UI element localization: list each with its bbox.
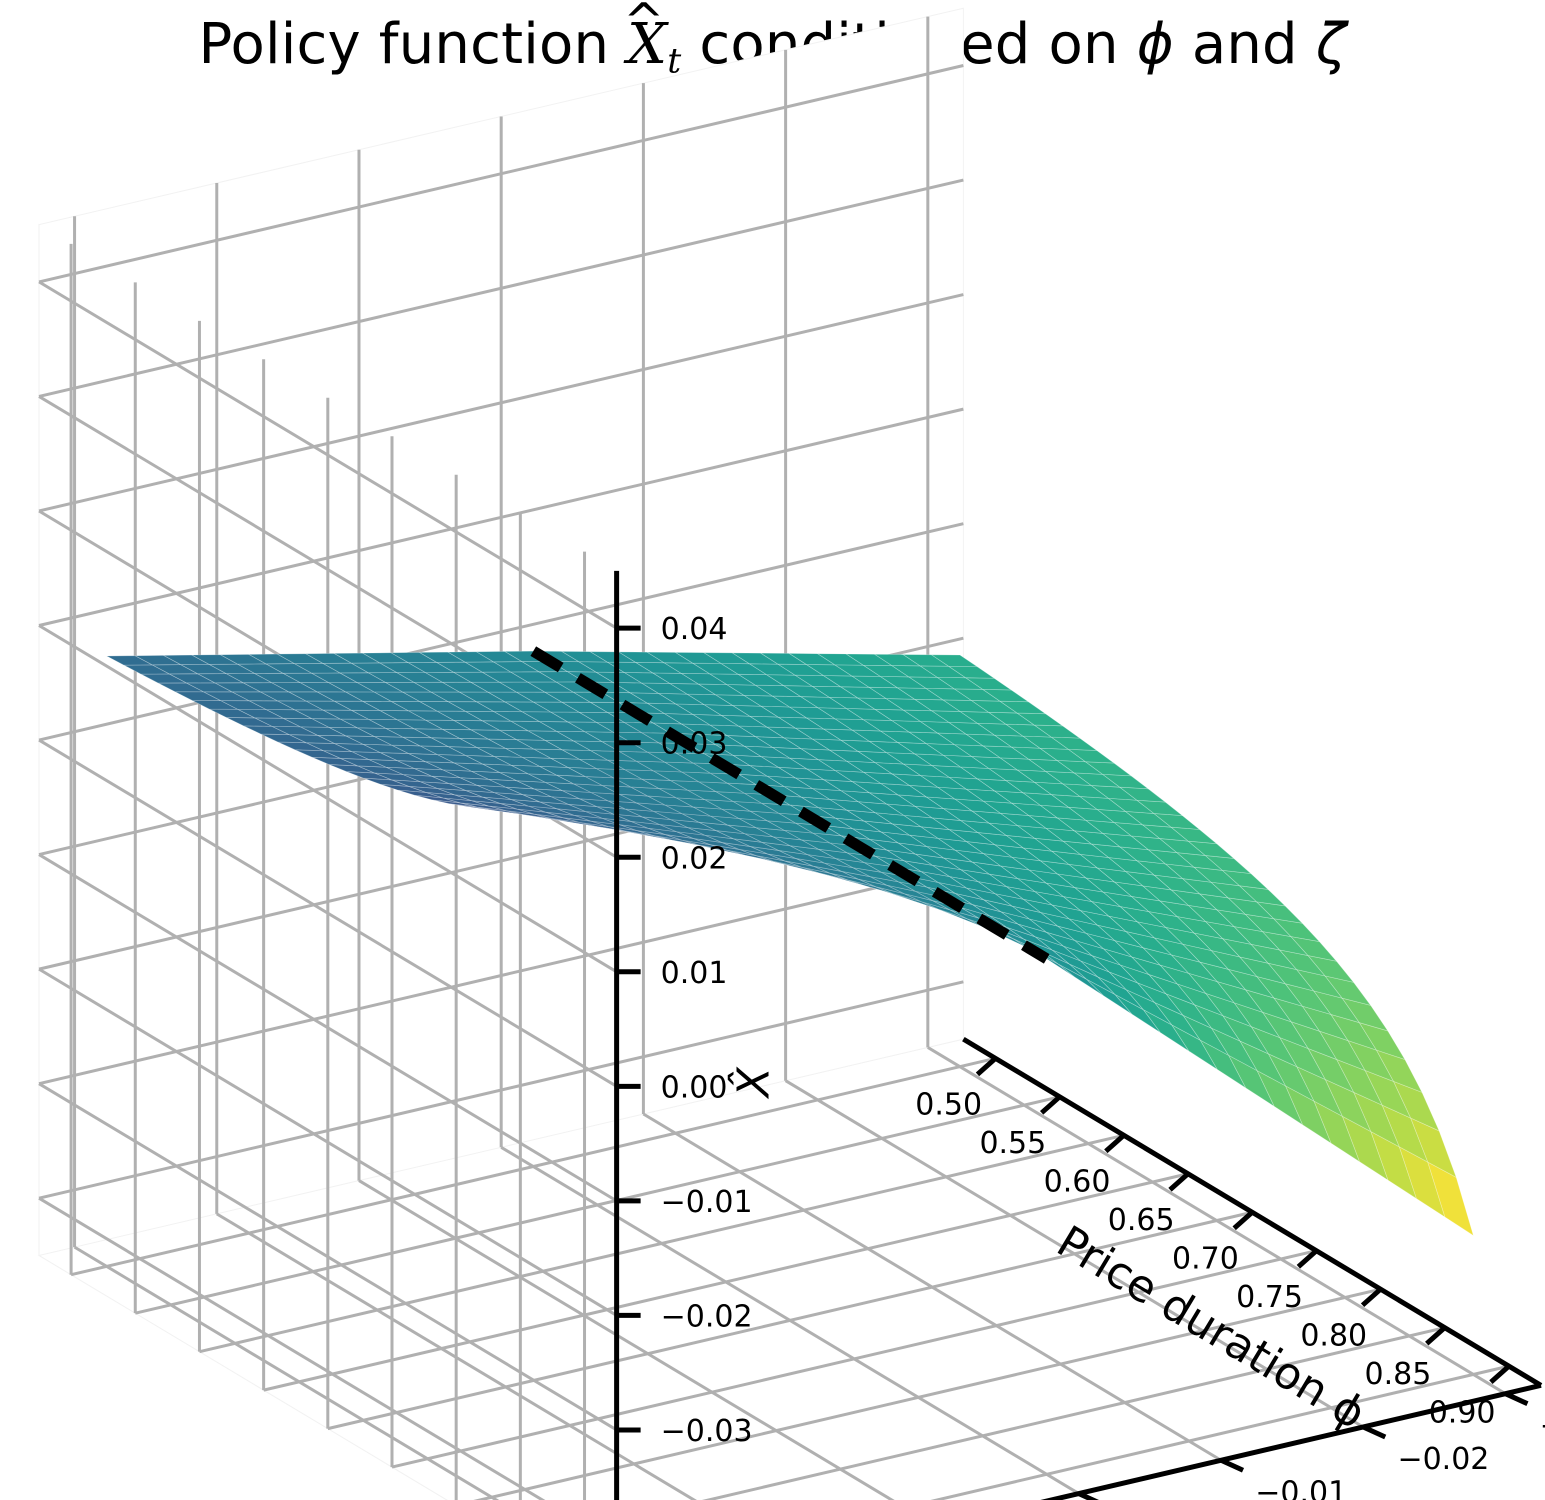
y-tick-label: −0.01 [1255, 1475, 1347, 1500]
y-tick-label: −0.02 [1397, 1442, 1489, 1477]
y-tick-mark [1363, 1427, 1385, 1437]
z-tick-label: −0.01 [661, 1185, 753, 1220]
x-tick-label: 0.50 [915, 1088, 982, 1123]
x-tick-label: 0.55 [979, 1126, 1046, 1161]
z-tick-label: 0.02 [661, 841, 728, 876]
x-tick-label: 0.70 [1172, 1242, 1239, 1277]
x-tick-label: 0.60 [1044, 1165, 1111, 1200]
surface-plot-canvas: 0.500.550.600.650.700.750.800.850.90−0.0… [0, 0, 1545, 1500]
z-tick-label: −0.03 [661, 1414, 753, 1449]
figure-3d-surface-plot: Policy function X^t conditioned on ϕ and… [0, 0, 1545, 1500]
y-tick-mark [1079, 1494, 1101, 1500]
z-tick-label: −0.02 [661, 1299, 753, 1334]
z-axis-title: X̂ [727, 1066, 780, 1099]
z-tick-label: 0.03 [661, 727, 728, 762]
z-tick-label: 0.04 [661, 612, 728, 647]
x-tick-label: 0.75 [1236, 1280, 1303, 1315]
y-tick-label: −0.03 [1540, 1409, 1545, 1444]
x-tick-label: 0.80 [1300, 1319, 1367, 1354]
y-tick-mark [1221, 1460, 1243, 1470]
y-tick-mark [1505, 1394, 1527, 1404]
x-tick-label: 0.90 [1429, 1396, 1496, 1431]
x-tick-label: 0.65 [1108, 1203, 1175, 1238]
z-tick-label: 0.00 [661, 1070, 728, 1105]
x-tick-label: 0.85 [1365, 1357, 1432, 1392]
z-tick-label: 0.01 [661, 956, 728, 991]
